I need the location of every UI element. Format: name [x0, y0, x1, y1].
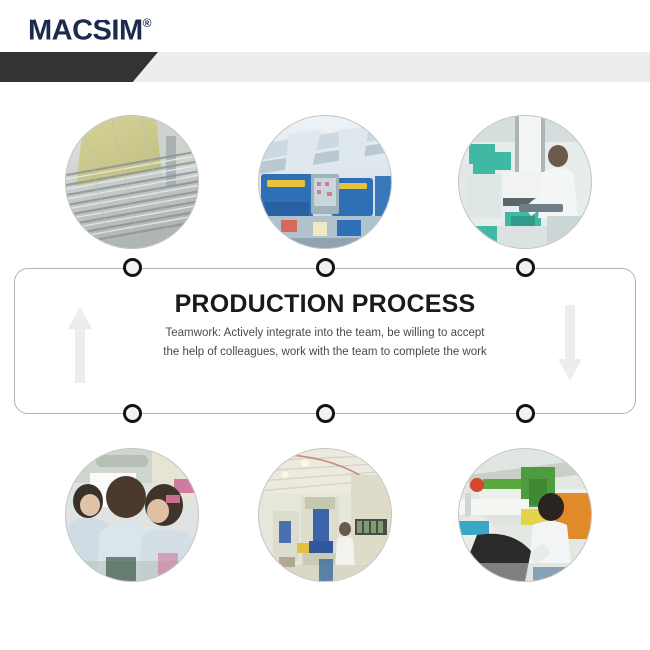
product-line-banner-content: PRODUCT LINE — [8, 0, 132, 30]
node-top-3 — [516, 258, 535, 277]
photo-teal-machine-operator-image — [459, 116, 591, 248]
node-bottom-3 — [516, 404, 535, 423]
product-line-label: PRODUCT LINE — [21, 8, 132, 23]
photo-conveyor-grid[interactable] — [66, 116, 198, 248]
node-bottom-1 — [123, 404, 142, 423]
registered-trademark-icon: ® — [143, 16, 151, 30]
node-bottom-2 — [316, 404, 335, 423]
photo-teal-machine-operator[interactable] — [459, 116, 591, 248]
photo-blue-press-machines[interactable] — [259, 116, 391, 248]
node-top-2 — [316, 258, 335, 277]
photo-workers-team-image — [66, 449, 198, 581]
photo-conveyor-grid-image — [66, 116, 198, 248]
page-header: MACSIM® PRODUCT LINE — [0, 0, 650, 100]
node-top-1 — [123, 258, 142, 277]
product-line-banner — [0, 52, 158, 82]
circle-bullet-icon — [8, 12, 15, 19]
panel-description: Teamwork: Actively integrate into the te… — [160, 324, 490, 362]
photo-green-machine-operator[interactable] — [459, 449, 591, 581]
photo-green-machine-operator-image — [459, 449, 591, 581]
production-process-panel: PRODUCTION PROCESS Teamwork: Actively in… — [14, 268, 636, 414]
photo-workers-team[interactable] — [66, 449, 198, 581]
photo-factory-floor-image — [259, 449, 391, 581]
photo-factory-floor[interactable] — [259, 449, 391, 581]
photo-blue-press-machines-image — [259, 116, 391, 248]
panel-title: PRODUCTION PROCESS — [15, 290, 635, 319]
